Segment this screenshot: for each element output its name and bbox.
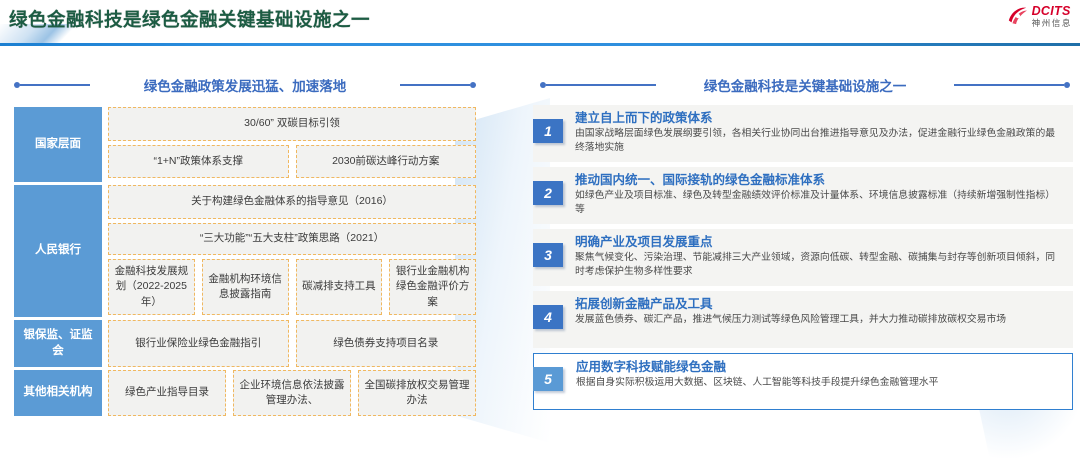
list-item[interactable]: 2 推动国内统一、国际接轨的绿色金融标准体系 如绿色产业及项目标准、绿色及转型金…: [533, 167, 1073, 224]
sub-row: 绿色产业指导目录 企业环境信息依法披露管理办法、 全国碳排放权交易管理办法: [108, 370, 476, 416]
sub-row: 关于构建绿色金融体系的指导意见（2016）: [108, 185, 476, 219]
key-points-list: 1 建立自上而下的政策体系 由国家战略层面绿色发展纲要引领，各相关行业协同出台推…: [533, 105, 1073, 415]
point-content: 应用数字科技赋能绿色金融 根据自身实际积极运用大数据、区块链、人工智能等科技手段…: [533, 353, 1073, 410]
point-title: 建立自上而下的政策体系: [575, 110, 1063, 126]
point-description: 由国家战略层面绿色发展纲要引领，各相关行业协同出台推进指导意见及办法，促进金融行…: [575, 127, 1063, 155]
point-description: 根据自身实际积极运用大数据、区块链、人工智能等科技手段提升绿色金融管理水平: [576, 376, 1062, 390]
point-number-badge: 4: [533, 305, 563, 329]
page-title: 绿色金融科技是绿色金融关键基础设施之一: [9, 6, 370, 32]
sub-row: 银行业保险业绿色金融指引 绿色债券支持项目名录: [108, 320, 476, 367]
row-body: 30/60” 双碳目标引领 “1+N”政策体系支撑 2030前碳达峰行动方案: [108, 107, 476, 182]
policy-cell[interactable]: 2030前碳达峰行动方案: [296, 145, 477, 178]
point-title: 拓展创新金融产品及工具: [575, 296, 1063, 312]
point-number-badge: 1: [533, 119, 563, 143]
policy-cell[interactable]: 全国碳排放权交易管理办法: [358, 370, 476, 416]
point-number-badge: 5: [533, 367, 563, 391]
section-rule-right-start: [546, 84, 656, 86]
header-divider-rule: [0, 43, 1080, 46]
policy-cell[interactable]: 30/60” 双碳目标引领: [108, 107, 476, 141]
list-item[interactable]: 1 建立自上而下的政策体系 由国家战略层面绿色发展纲要引领，各相关行业协同出台推…: [533, 105, 1073, 162]
table-row: 人民银行 关于构建绿色金融体系的指导意见（2016） “三大功能”“五大支柱”政…: [14, 185, 476, 317]
policy-cell[interactable]: 金融机构环境信息披露指南: [202, 259, 289, 315]
point-content: 推动国内统一、国际接轨的绿色金融标准体系 如绿色产业及项目标准、绿色及转型金融绩…: [533, 167, 1073, 224]
brand-logo: DCITS 神州信息: [1006, 5, 1072, 28]
section-title-left: 绿色金融政策发展迅猛、加速落地: [130, 75, 361, 95]
section-dot-right-end: [1064, 82, 1070, 88]
point-number-badge: 3: [533, 243, 563, 267]
point-description: 如绿色产业及项目标准、绿色及转型金融绩效评价标准及计量体系、环境信息披露标准（持…: [575, 189, 1063, 217]
table-row: 国家层面 30/60” 双碳目标引领 “1+N”政策体系支撑 2030前碳达峰行…: [14, 107, 476, 182]
section-header-left: 绿色金融政策发展迅猛、加速落地: [14, 74, 476, 96]
logo-wordmark: DCITS 神州信息: [1032, 5, 1072, 28]
section-header-right: 绿色金融科技是关键基础设施之一: [540, 74, 1070, 96]
row-body: 关于构建绿色金融体系的指导意见（2016） “三大功能”“五大支柱”政策思路（2…: [108, 185, 476, 317]
point-title: 推动国内统一、国际接轨的绿色金融标准体系: [575, 172, 1063, 188]
point-content: 明确产业及项目发展重点 聚焦气候变化、污染治理、节能减排三大产业领域，资源向低碳…: [533, 229, 1073, 286]
policy-cell[interactable]: 绿色债券支持项目名录: [296, 320, 477, 367]
point-description: 聚焦气候变化、污染治理、节能减排三大产业领域，资源向低碳、转型金融、碳捕集与封存…: [575, 251, 1063, 279]
policy-cell[interactable]: “1+N”政策体系支撑: [108, 145, 289, 178]
sub-row: “三大功能”“五大支柱”政策思路（2021）: [108, 223, 476, 255]
logo-cn-text: 神州信息: [1032, 19, 1072, 28]
row-body: 绿色产业指导目录 企业环境信息依法披露管理办法、 全国碳排放权交易管理办法: [108, 370, 476, 416]
point-content: 建立自上而下的政策体系 由国家战略层面绿色发展纲要引领，各相关行业协同出台推进指…: [533, 105, 1073, 162]
policy-cell[interactable]: 金融科技发展规划（2022-2025年）: [108, 259, 195, 315]
sub-row: 30/60” 双碳目标引领: [108, 107, 476, 141]
section-dot-left-end: [470, 82, 476, 88]
section-rule-left-end: [400, 84, 470, 86]
row-body: 银行业保险业绿色金融指引 绿色债券支持项目名录: [108, 320, 476, 367]
point-title: 应用数字科技赋能绿色金融: [576, 359, 1062, 375]
point-content: 拓展创新金融产品及工具 发展蓝色债券、碳汇产品，推进气候压力测试等绿色风险管理工…: [533, 291, 1073, 348]
policy-cell[interactable]: “三大功能”“五大支柱”政策思路（2021）: [108, 223, 476, 255]
policy-cell[interactable]: 企业环境信息依法披露管理办法、: [233, 370, 351, 416]
table-row: 其他相关机构 绿色产业指导目录 企业环境信息依法披露管理办法、 全国碳排放权交易…: [14, 370, 476, 416]
row-label: 银保监、证监会: [14, 320, 102, 367]
list-item-highlighted[interactable]: 5 应用数字科技赋能绿色金融 根据自身实际积极运用大数据、区块链、人工智能等科技…: [533, 353, 1073, 410]
point-number-badge: 2: [533, 181, 563, 205]
logo-en-text: DCITS: [1032, 5, 1072, 18]
row-label: 国家层面: [14, 107, 102, 182]
policy-cell[interactable]: 银行业保险业绿色金融指引: [108, 320, 289, 367]
point-title: 明确产业及项目发展重点: [575, 234, 1063, 250]
table-row: 银保监、证监会 银行业保险业绿色金融指引 绿色债券支持项目名录: [14, 320, 476, 367]
section-rule-left-start: [20, 84, 90, 86]
list-item[interactable]: 3 明确产业及项目发展重点 聚焦气候变化、污染治理、节能减排三大产业领域，资源向…: [533, 229, 1073, 286]
section-rule-right-end: [954, 84, 1064, 86]
row-label: 其他相关机构: [14, 370, 102, 416]
policy-cell[interactable]: 碳减排支持工具: [296, 259, 383, 315]
section-title-right: 绿色金融科技是关键基础设施之一: [690, 75, 921, 95]
row-label: 人民银行: [14, 185, 102, 317]
point-description: 发展蓝色债券、碳汇产品，推进气候压力测试等绿色风险管理工具，并大力推动碳排放碳权…: [575, 313, 1063, 327]
policy-cell[interactable]: 银行业金融机构绿色金融评价方案: [389, 259, 476, 315]
dcits-swoosh-icon: [1006, 6, 1028, 26]
sub-row: 金融科技发展规划（2022-2025年） 金融机构环境信息披露指南 碳减排支持工…: [108, 259, 476, 315]
policy-matrix: 国家层面 30/60” 双碳目标引领 “1+N”政策体系支撑 2030前碳达峰行…: [14, 107, 476, 416]
policy-cell[interactable]: 关于构建绿色金融体系的指导意见（2016）: [108, 185, 476, 219]
slide-header: 绿色金融科技是绿色金融关键基础设施之一 DCITS 神州信息: [0, 0, 1080, 52]
list-item[interactable]: 4 拓展创新金融产品及工具 发展蓝色债券、碳汇产品，推进气候压力测试等绿色风险管…: [533, 291, 1073, 348]
slide-canvas: 绿色金融科技是绿色金融关键基础设施之一 DCITS 神州信息 绿色金融政策发展迅…: [0, 0, 1080, 458]
sub-row: “1+N”政策体系支撑 2030前碳达峰行动方案: [108, 145, 476, 178]
policy-cell[interactable]: 绿色产业指导目录: [108, 370, 226, 416]
